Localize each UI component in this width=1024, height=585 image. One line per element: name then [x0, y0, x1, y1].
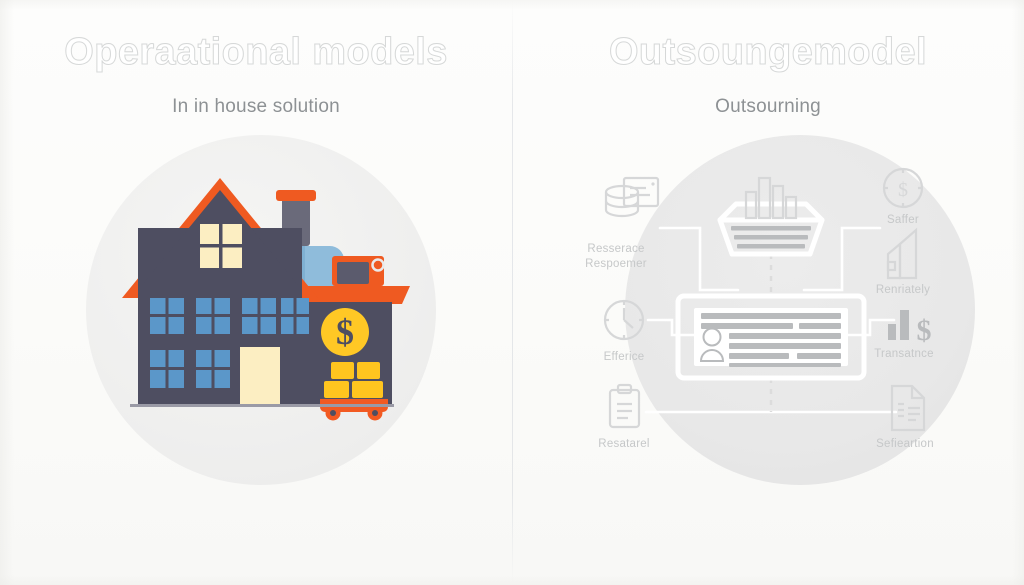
node-label-restatement: Resatarel [574, 437, 674, 452]
rooftop-machine-icon [332, 256, 384, 286]
right-panel-ghost-title: Outsoungemodel [512, 31, 1024, 74]
svg-text:$: $ [898, 179, 908, 201]
node-label-reliability: Renriately [853, 283, 953, 298]
left-panel-subtitle: In in house solution [0, 96, 512, 118]
node-label-separation: Sefieartion [853, 437, 957, 452]
cloud-basket-bars [746, 178, 796, 218]
bar-chart-icon [888, 230, 916, 278]
ground-line [130, 404, 394, 407]
house-illustration: $ [104, 170, 414, 425]
document-icon [892, 386, 924, 430]
right-panel-outsourcing: Outsoungemodel Outsourning [512, 0, 1024, 585]
bar-chart-dollar-icon: $ [888, 310, 932, 347]
node-label-saffer: Saffer [853, 213, 953, 228]
central-document-card [678, 296, 864, 378]
left-panel-in-house: Operaational models In in house solution [0, 0, 512, 585]
upper-floor-windows [150, 298, 309, 334]
left-panel-ghost-title: Operaational models [0, 31, 512, 74]
outsourcing-diagram: $ $ [560, 150, 980, 480]
node-label-transaction: Transatnce [848, 347, 960, 362]
dollar-coin-icon: $ [321, 308, 369, 356]
entrance-door [240, 347, 280, 404]
slide-canvas: Operaational models In in house solution [0, 0, 1024, 585]
svg-text:$: $ [336, 312, 354, 352]
attic-window [200, 224, 242, 268]
right-panel-subtitle: Outsourning [512, 96, 1024, 118]
svg-text:$: $ [917, 314, 932, 347]
dollar-circle-icon: $ [884, 169, 922, 207]
node-label-efficiency: Efferice [574, 350, 674, 365]
node-label-resource: Resserace Respoemer [556, 242, 676, 271]
clock-icon [605, 301, 643, 339]
cloud-basket-stripes [731, 226, 811, 249]
clipboard-icon [610, 385, 639, 427]
database-coins-icon [606, 178, 658, 216]
